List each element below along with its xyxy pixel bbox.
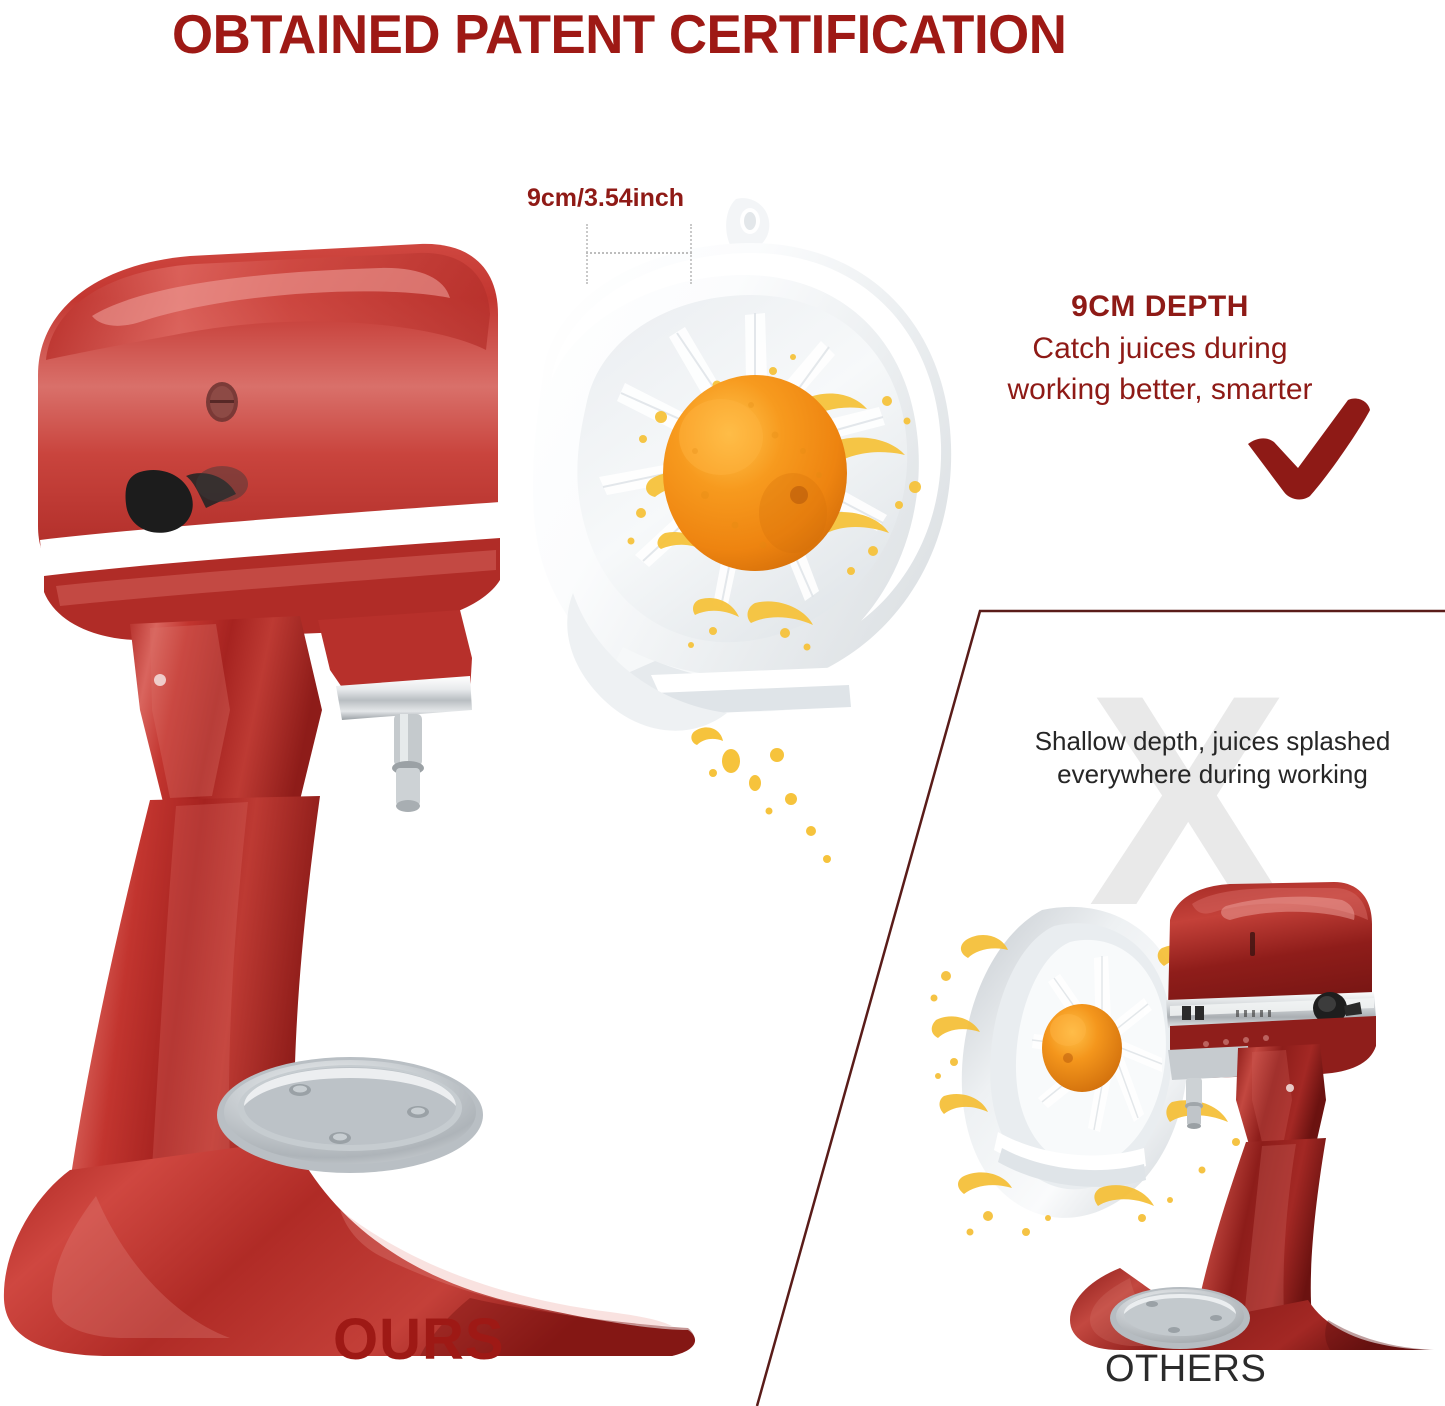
- others-bowl-lock-plate: [1110, 1287, 1250, 1349]
- ours-label: OURS: [333, 1306, 505, 1373]
- others-mixer-illustration: [930, 880, 1445, 1350]
- feature-callout: 9CM DEPTH Catch juices during working be…: [930, 288, 1390, 409]
- product-comparison-image: OBTAINED PATENT CERTIFICATION: [0, 0, 1445, 1406]
- dimension-label: 9cm/3.54inch: [527, 184, 684, 213]
- main-juicer-bowl-illustration: [455, 195, 975, 875]
- dimension-extension-right: [690, 224, 692, 284]
- check-mark-icon: [1244, 396, 1374, 501]
- others-label: OTHERS: [1105, 1348, 1266, 1391]
- dimension-line: [586, 252, 692, 254]
- comparison-line-2: everywhere during working: [1000, 758, 1425, 791]
- comparison-line-1: Shallow depth, juices splashed: [1000, 725, 1425, 758]
- feature-line-1: Catch juices during: [930, 330, 1390, 368]
- feature-title: 9CM DEPTH: [930, 288, 1390, 326]
- comparison-description: Shallow depth, juices splashed everywher…: [1000, 725, 1425, 791]
- dimension-extension-left: [586, 224, 588, 284]
- page-title: OBTAINED PATENT CERTIFICATION: [0, 2, 1238, 66]
- bowl-lock-plate: [217, 1057, 483, 1173]
